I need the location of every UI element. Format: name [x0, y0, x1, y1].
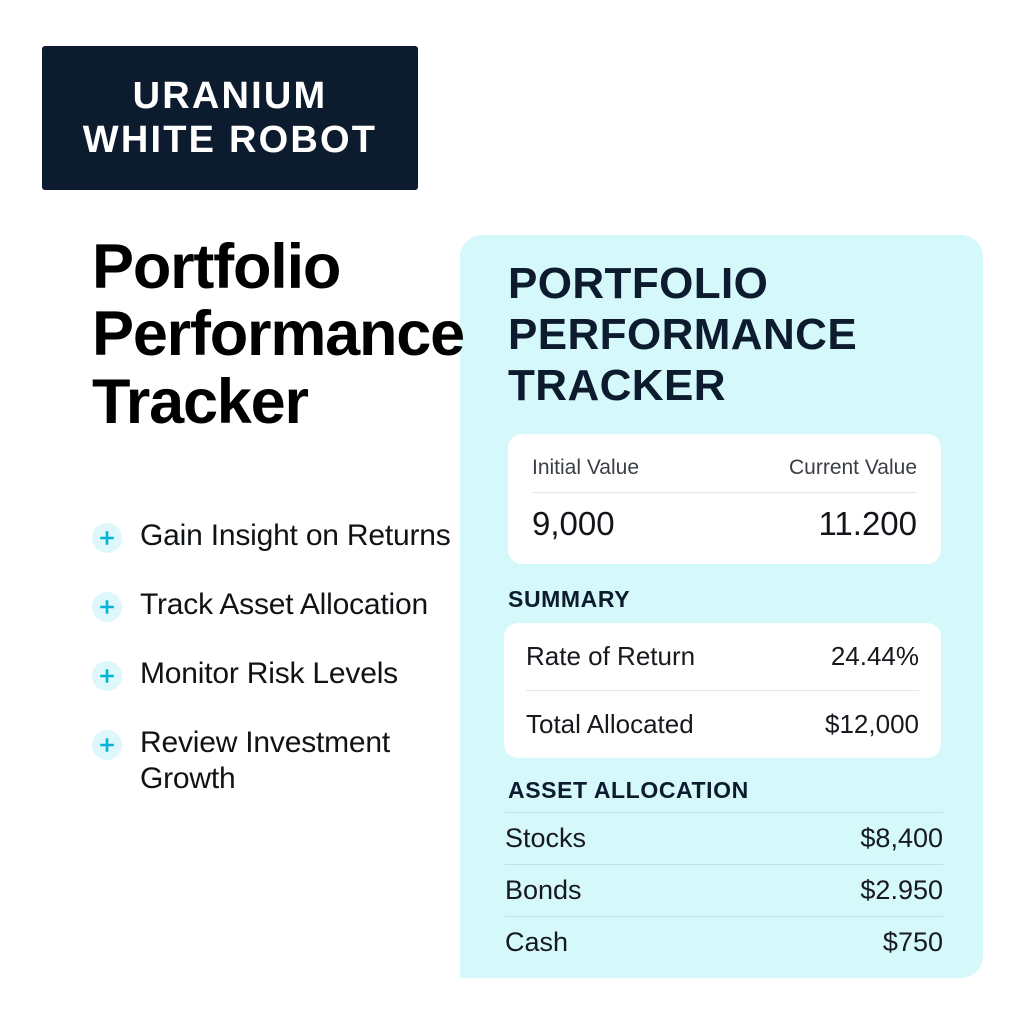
panel-title: PORTFOLIO PERFORMANCE TRACKER [508, 258, 978, 411]
summary-row: Rate of Return 24.44% [526, 623, 919, 690]
asset-label: Stocks [505, 823, 586, 854]
feature-label: Monitor Risk Levels [140, 656, 398, 692]
summary-card: Rate of Return 24.44% Total Allocated $1… [504, 623, 941, 758]
asset-value: $8,400 [860, 823, 943, 854]
initial-value-amount: 9,000 [532, 505, 615, 543]
asset-allocation-list: Stocks $8,400 Bonds $2.950 Cash $750 [505, 812, 943, 968]
list-item: Track Asset Allocation [92, 587, 472, 623]
feature-list: Gain Insight on Returns Track Asset Allo… [92, 518, 472, 797]
summary-row-value: $12,000 [825, 709, 919, 740]
asset-allocation-row: Stocks $8,400 [505, 812, 943, 864]
asset-value: $750 [883, 927, 943, 958]
summary-heading: SUMMARY [508, 586, 630, 613]
value-summary-card: Initial Value Current Value 9,000 11.200 [508, 434, 941, 564]
summary-row-label: Rate of Return [526, 641, 695, 672]
plus-icon [92, 661, 122, 691]
feature-label: Review Investment Growth [140, 725, 472, 797]
asset-label: Bonds [505, 875, 582, 906]
asset-label: Cash [505, 927, 568, 958]
value-card-headers: Initial Value Current Value [532, 456, 917, 480]
asset-value: $2.950 [860, 875, 943, 906]
value-card-values: 9,000 11.200 [532, 505, 917, 543]
current-value-amount: 11.200 [819, 505, 917, 543]
asset-allocation-heading: ASSET ALLOCATION [508, 777, 749, 804]
plus-icon [92, 730, 122, 760]
list-item: Gain Insight on Returns [92, 518, 472, 554]
plus-icon [92, 592, 122, 622]
summary-row: Total Allocated $12,000 [526, 690, 919, 758]
summary-row-label: Total Allocated [526, 709, 694, 740]
asset-allocation-row: Cash $750 [505, 916, 943, 968]
feature-label: Track Asset Allocation [140, 587, 428, 623]
page-title: Portfolio Performance Tracker [92, 234, 562, 436]
asset-allocation-row: Bonds $2.950 [505, 864, 943, 916]
summary-row-value: 24.44% [831, 641, 919, 672]
brand-name-line-2: WHITE ROBOT [83, 118, 377, 162]
feature-label: Gain Insight on Returns [140, 518, 451, 554]
plus-icon [92, 523, 122, 553]
list-item: Monitor Risk Levels [92, 656, 472, 692]
initial-value-label: Initial Value [532, 456, 639, 480]
value-card-divider [532, 492, 917, 493]
brand-banner: URANIUM WHITE ROBOT [42, 46, 418, 190]
current-value-label: Current Value [789, 456, 917, 480]
brand-name-line-1: URANIUM [133, 74, 328, 118]
list-item: Review Investment Growth [92, 725, 472, 797]
